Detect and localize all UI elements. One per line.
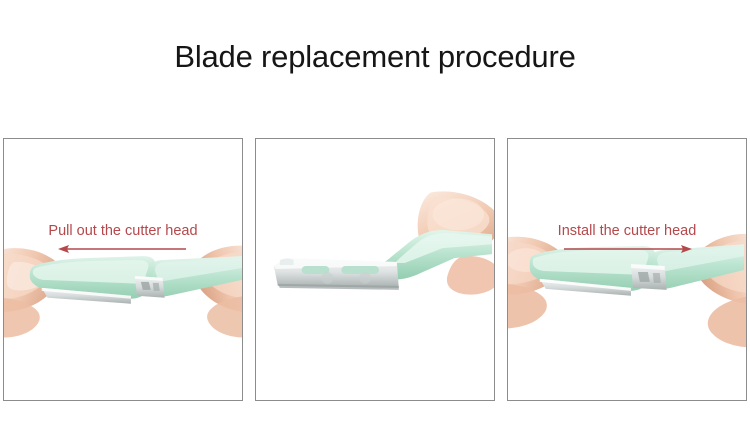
panel-blade-detail: [255, 138, 495, 401]
panel-caption: Pull out the cutter head: [4, 222, 242, 240]
illustration-install: [508, 139, 746, 400]
panel-pull-out: Pull out the cutter head: [3, 138, 243, 401]
panel-strip: Pull out the cutter head: [3, 138, 747, 401]
blade-clip: [631, 264, 667, 290]
steel-blade: [274, 258, 399, 290]
arrow-right-icon: [562, 243, 692, 255]
page-title: Blade replacement procedure: [0, 38, 750, 76]
arrow-right-wrap: [508, 243, 746, 257]
panel-caption: Install the cutter head: [508, 222, 746, 240]
panel-install: Install the cutter head: [507, 138, 747, 401]
blade-clip: [135, 276, 165, 298]
arrow-left-wrap: [4, 243, 242, 257]
illustration-pull-out: [4, 139, 242, 400]
arrow-left-icon: [58, 243, 188, 255]
illustration-blade-detail: [256, 139, 494, 400]
